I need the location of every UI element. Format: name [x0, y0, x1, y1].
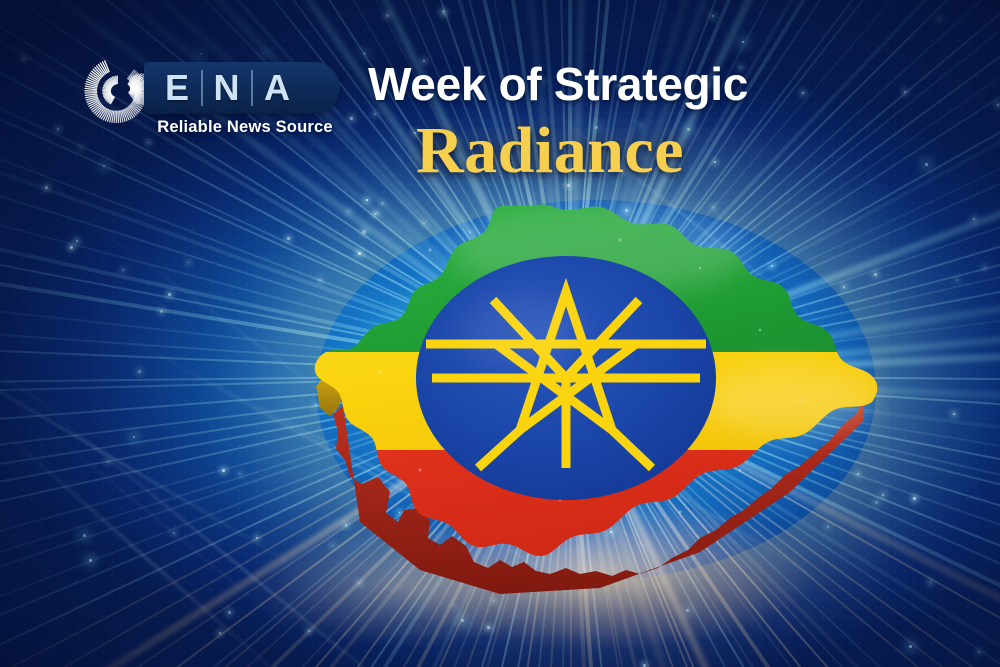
acronym-letter-n: N	[201, 70, 252, 106]
ena-acronym-letters: E N A	[154, 64, 304, 112]
acronym-letter-e: E	[154, 70, 201, 106]
acronym-letter-a: A	[251, 70, 302, 106]
brand-tagline: Reliable News Source	[142, 118, 348, 137]
ethiopia-emblem-star-icon	[416, 256, 716, 500]
headline-line-2: Radiance	[416, 118, 816, 184]
ena-logo-block[interactable]: E N A Reliable News Source	[82, 48, 344, 148]
headline-line-1: Week of Strategic	[368, 61, 838, 108]
poster-canvas: E N A Reliable News Source Week of Strat…	[0, 0, 1000, 667]
